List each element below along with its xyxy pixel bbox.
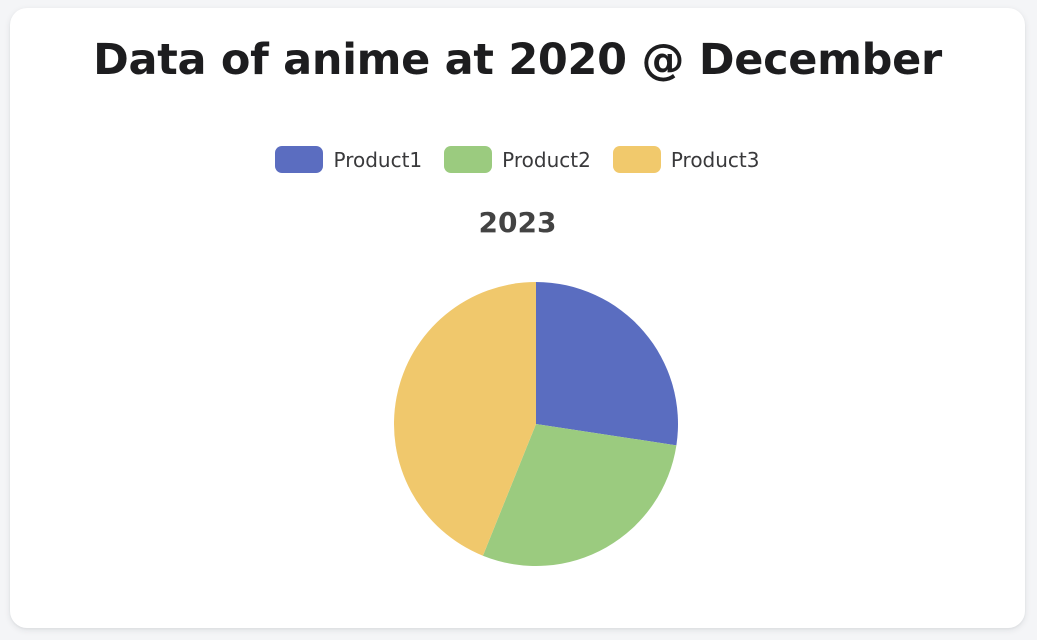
- chart-legend: Product1 Product2 Product3: [10, 146, 1025, 173]
- legend-label: Product2: [502, 150, 591, 170]
- pie-slice-group: [394, 282, 678, 566]
- chart-page: Data of anime at 2020 @ December Product…: [0, 0, 1037, 640]
- legend-item-product1[interactable]: Product1: [275, 146, 422, 173]
- legend-swatch-icon: [613, 146, 661, 173]
- page-title: Data of anime at 2020 @ December: [10, 36, 1025, 85]
- chart-card: Data of anime at 2020 @ December Product…: [10, 8, 1025, 628]
- pie-chart-svg: [384, 272, 688, 576]
- legend-label: Product1: [333, 150, 422, 170]
- legend-label: Product3: [671, 150, 760, 170]
- legend-swatch-icon: [275, 146, 323, 173]
- legend-swatch-icon: [444, 146, 492, 173]
- legend-item-product2[interactable]: Product2: [444, 146, 591, 173]
- pie-slice-product1[interactable]: [536, 282, 678, 445]
- pie-chart: [384, 272, 688, 576]
- legend-item-product3[interactable]: Product3: [613, 146, 760, 173]
- chart-subtitle: 2023: [10, 206, 1025, 240]
